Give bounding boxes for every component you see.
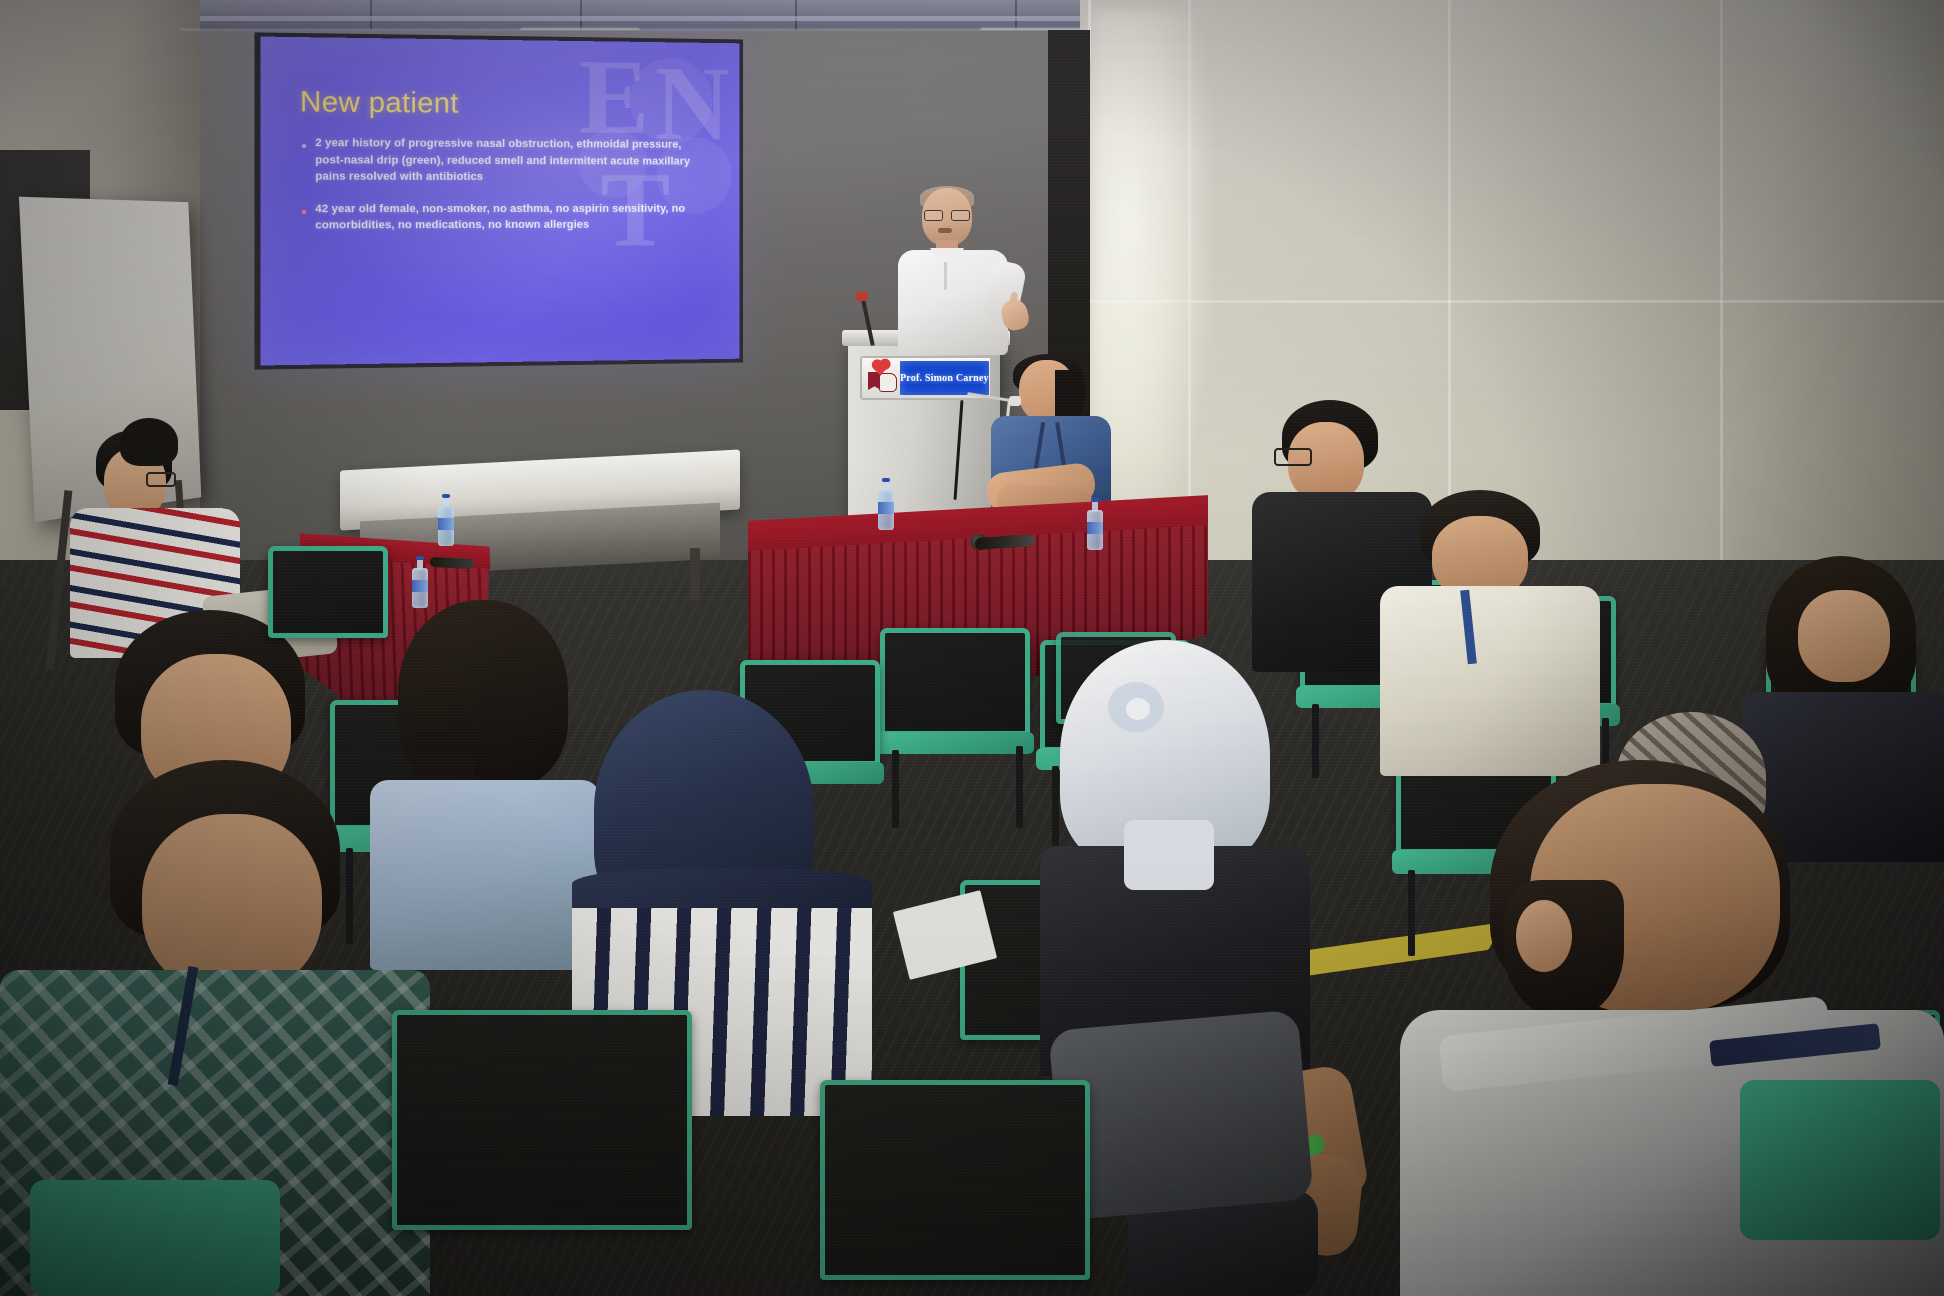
bottle-cap	[416, 556, 424, 560]
speaker-name-text: Prof. Simon Carney	[900, 373, 989, 384]
projection-screen: E N T New patient 2 year history of prog…	[261, 37, 740, 366]
bottle-label	[1087, 522, 1103, 534]
bullet-dot-icon	[302, 144, 306, 148]
headset-microphone-capsule	[1009, 396, 1021, 406]
speaker-placket	[944, 262, 947, 290]
slide-title: New patient	[300, 86, 459, 121]
presenter-speaker	[880, 188, 1040, 353]
bottle-cap	[882, 478, 890, 482]
audience-member	[1380, 490, 1600, 770]
hijab-collar	[1124, 820, 1214, 890]
water-bottle	[878, 478, 894, 530]
examination-bed-leg	[690, 548, 700, 600]
head	[142, 814, 322, 994]
bottle-cap	[1091, 498, 1099, 502]
hijab-motif-inner	[1126, 698, 1150, 720]
ear	[1516, 900, 1572, 972]
audience-member	[120, 418, 260, 538]
slide-bullet-text: 2 year history of progressive nasal obst…	[315, 135, 708, 186]
audience-member	[370, 600, 600, 900]
light-blue-jacket-torso	[370, 780, 600, 970]
bullet-dot-icon	[302, 210, 306, 214]
hair	[120, 418, 178, 466]
glasses-icon	[1274, 448, 1312, 466]
slide-bullet-text: 42 year old female, non-smoker, no asthm…	[315, 201, 708, 235]
slide-bullet-item: 2 year history of progressive nasal obst…	[302, 135, 709, 186]
wall-panel-seam	[1080, 300, 1944, 303]
slide-bullet-item: 42 year old female, non-smoker, no asthm…	[302, 201, 709, 235]
bottle-label	[438, 518, 454, 530]
hijab-drape	[572, 868, 872, 908]
glasses-icon	[924, 210, 970, 219]
bottle-label	[412, 580, 428, 592]
speaker-mouth	[938, 228, 952, 233]
cream-shirt-torso	[1380, 586, 1600, 776]
logo-hand-shape	[879, 373, 897, 392]
water-bottle	[438, 494, 454, 546]
podium-microphone-head	[856, 292, 868, 301]
wall-trim	[180, 28, 1080, 31]
lecture-room-photo: E N T New patient 2 year history of prog…	[0, 0, 1944, 1296]
panelist-hair-side	[1055, 370, 1085, 418]
slide-bullet-list: 2 year history of progressive nasal obst…	[302, 135, 709, 250]
watermark-letter-e: E	[579, 47, 649, 149]
heart-and-hand-logo-icon	[866, 362, 896, 394]
audience-member	[1040, 640, 1310, 1070]
bottle-cap	[442, 494, 450, 498]
head	[1798, 590, 1890, 682]
bottle-label	[878, 502, 894, 514]
name-sign-led-display: Prof. Simon Carney	[900, 361, 989, 395]
water-bottle	[1087, 498, 1103, 550]
